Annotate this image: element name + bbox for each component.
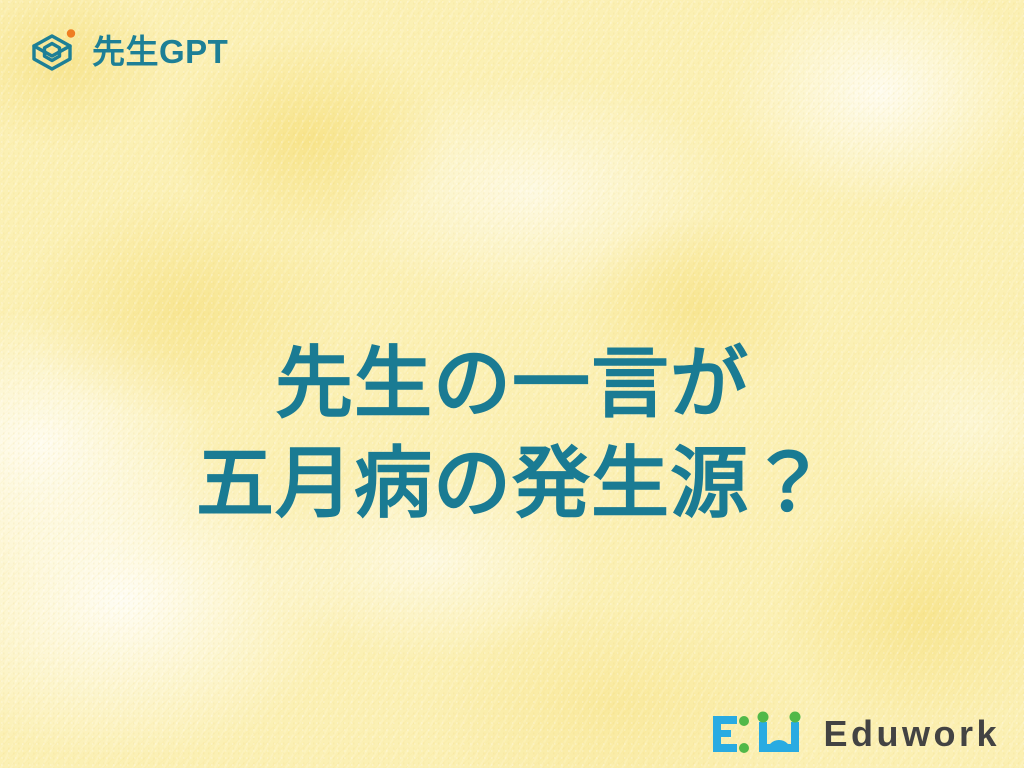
- brand-logo: 先生GPT: [28, 26, 228, 76]
- brand-wordmark: 先生GPT: [92, 35, 228, 68]
- slide-canvas: 先生GPT 先生の一言が 五月病の発生源？: [0, 0, 1024, 768]
- graduation-cap-hexagon-icon: [28, 26, 80, 76]
- title-line-1: 先生の一言が: [0, 334, 1024, 434]
- eduwork-e-w-mark-icon: [711, 710, 809, 758]
- accent-dot-icon: [67, 29, 75, 37]
- title-line-2: 五月病の発生源？: [0, 434, 1024, 534]
- page-title: 先生の一言が 五月病の発生源？: [0, 334, 1024, 534]
- eduwork-wordmark: Eduwork: [823, 716, 1000, 752]
- eduwork-logo: Eduwork: [711, 710, 1000, 758]
